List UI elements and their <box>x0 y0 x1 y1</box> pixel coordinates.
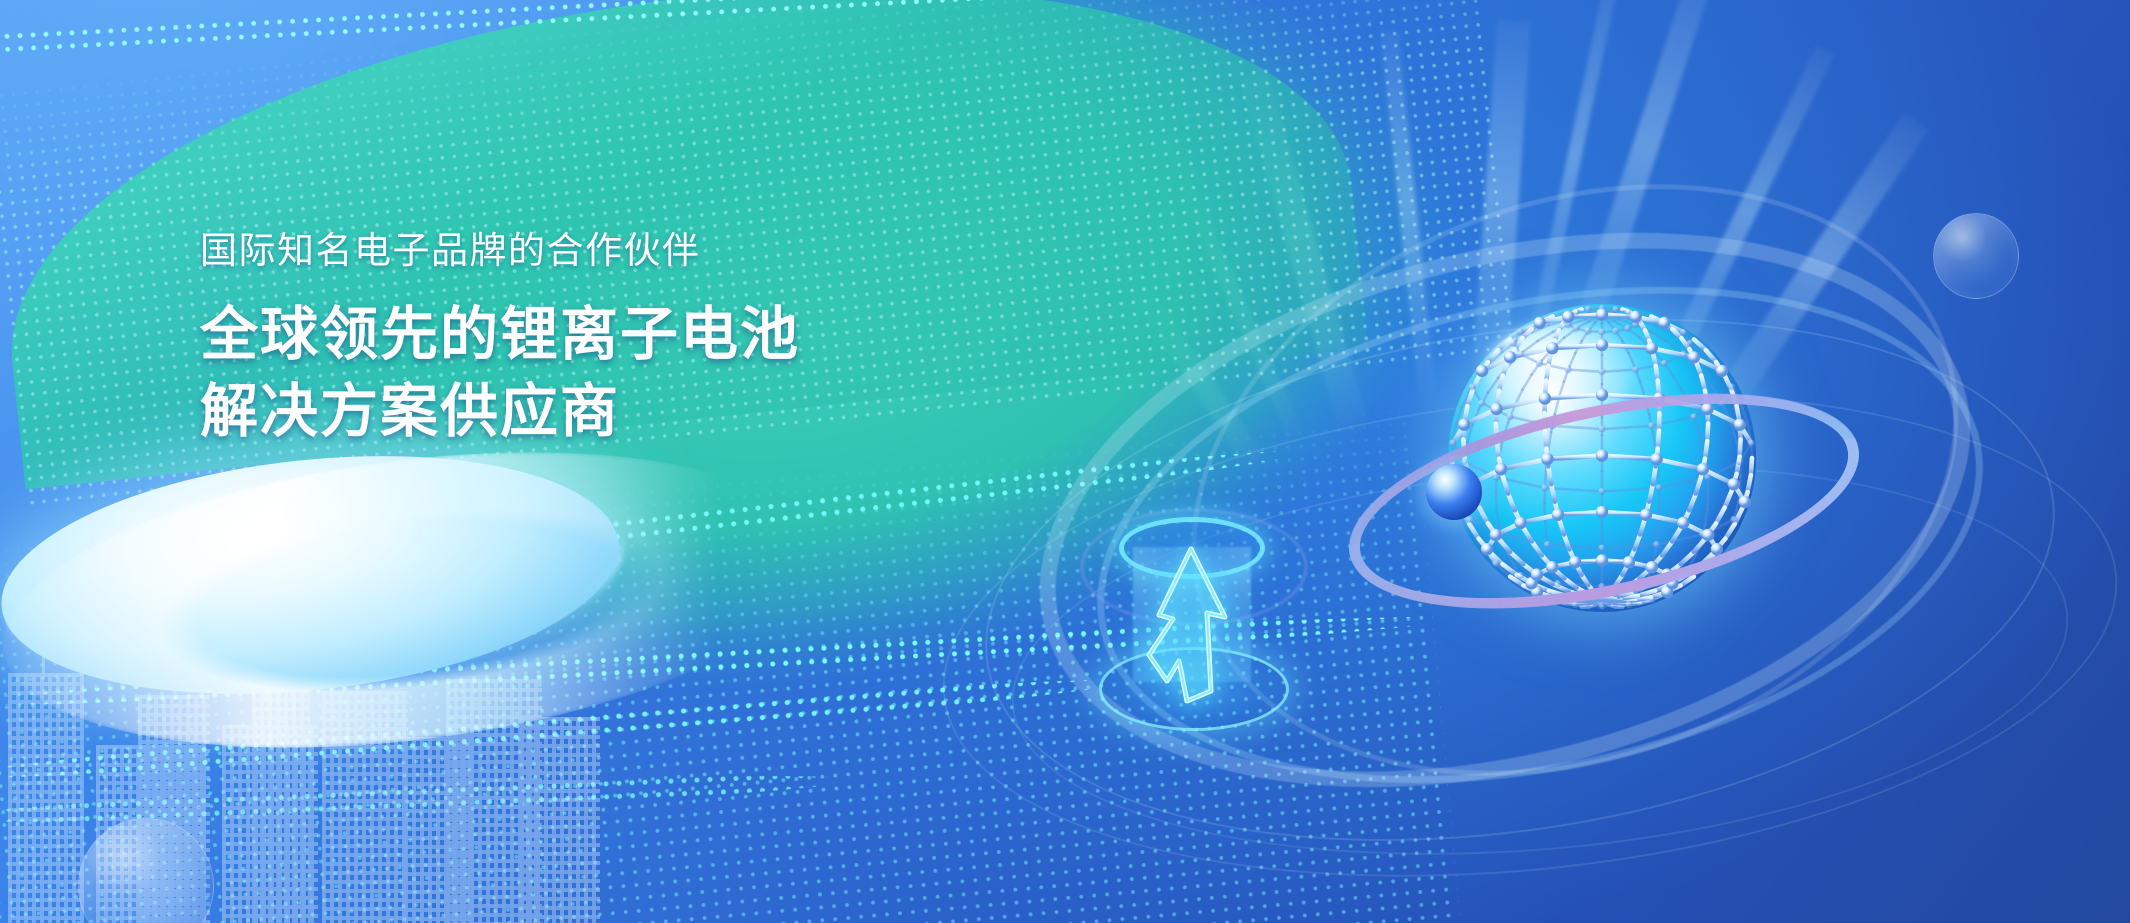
banner-headline-line2: 解决方案供应商 <box>200 373 1100 450</box>
light-ray <box>1239 70 1370 434</box>
skyline-building <box>520 717 600 923</box>
banner-headline-line1: 全球领先的锂离子电池 <box>200 296 1100 373</box>
skyline-building <box>252 653 310 923</box>
skyline-building <box>8 673 84 923</box>
bubble-sphere-icon <box>1933 213 2019 299</box>
platform-disc-icon <box>0 428 630 722</box>
satellite-node-icon <box>1426 464 1482 520</box>
light-ray <box>1380 31 1438 411</box>
light-ray <box>1084 215 1270 476</box>
skyline-building <box>322 691 408 923</box>
light-ray <box>1156 135 1305 443</box>
hero-banner: 国际知名电子品牌的合作伙伴 全球领先的锂离子电池 解决方案供应商 <box>0 0 2130 923</box>
upward-arrow-icon <box>1075 505 1315 755</box>
disc-swoosh <box>0 411 834 789</box>
banner-subtitle: 国际知名电子品牌的合作伙伴 <box>200 228 1100 274</box>
banner-copy: 国际知名电子品牌的合作伙伴 全球领先的锂离子电池 解决方案供应商 <box>200 228 1100 451</box>
skyline-spire <box>280 537 283 655</box>
arrow-pedestal-group <box>1075 505 1315 755</box>
platform-disc-edge <box>0 428 636 720</box>
skyline-spire <box>42 571 45 675</box>
wireframe-globe-icon <box>1432 288 1772 628</box>
